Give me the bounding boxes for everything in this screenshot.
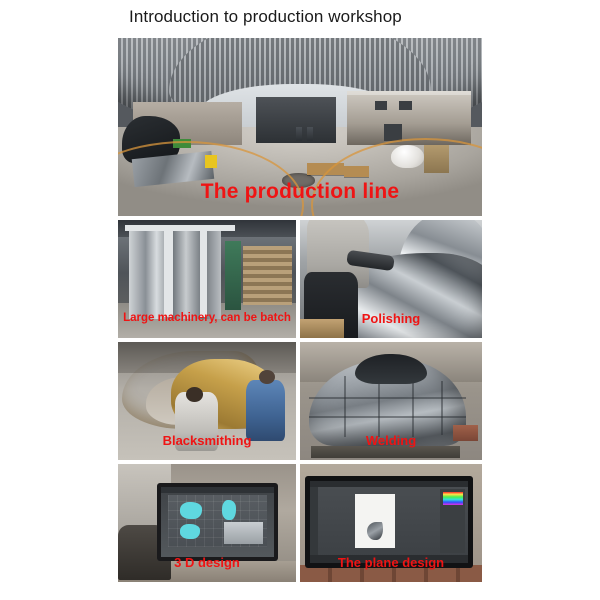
- welding-brick-pile: [453, 425, 478, 442]
- gallery-row-1: The production line: [118, 38, 482, 216]
- cardboard-boxes: [300, 565, 482, 582]
- machinery-timber-rack: [243, 246, 293, 305]
- product-description-page: Introduction to production workshop: [0, 0, 600, 600]
- photo-welding: [300, 342, 482, 460]
- panorama-worker: [296, 127, 302, 141]
- panorama-doorway: [384, 124, 401, 140]
- cyan-3d-model: [222, 500, 236, 520]
- machinery-column: [164, 229, 173, 316]
- design-monitor: [157, 483, 278, 561]
- render-preview-panel: [224, 522, 264, 544]
- gallery-item-polishing[interactable]: Polishing: [300, 220, 482, 338]
- monitor-screen: [161, 487, 274, 557]
- weld-seam: [441, 381, 443, 435]
- photo-3d-design: [118, 464, 296, 582]
- polishing-wood-support: [300, 319, 344, 338]
- photo-polishing: [300, 220, 482, 338]
- gallery-item-plane-design[interactable]: The plane design: [300, 464, 482, 582]
- sculpture-sketch: [367, 522, 383, 540]
- panorama-window: [399, 101, 411, 110]
- gallery-row-4: 3 D design: [118, 464, 482, 582]
- gallery-item-blacksmithing[interactable]: Blacksmithing: [118, 342, 296, 460]
- gallery-row-3: Blacksmithing: [118, 342, 482, 460]
- panorama-window: [375, 101, 387, 110]
- panorama-worker: [307, 127, 313, 141]
- machinery-green-frame: [225, 241, 241, 309]
- gallery-row-2: Large machinery, can be batch Polishing: [118, 220, 482, 338]
- photo-plane-design: [300, 464, 482, 582]
- cyan-3d-model: [180, 502, 202, 519]
- page-title: Introduction to production workshop: [129, 6, 402, 28]
- gallery-item-welding[interactable]: Welding: [300, 342, 482, 460]
- editor-screen: [310, 481, 467, 563]
- editor-status-bar: [310, 555, 467, 562]
- gallery-item-large-machinery[interactable]: Large machinery, can be batch: [118, 220, 296, 338]
- machinery-column: [200, 229, 207, 316]
- gallery-item-production-line[interactable]: The production line: [118, 38, 482, 216]
- gallery-item-3d-design[interactable]: 3 D design: [118, 464, 296, 582]
- workshop-image-gallery: The production line Large machinery, can…: [118, 38, 482, 586]
- plane-design-monitor: [305, 476, 472, 568]
- hydraulic-press: [129, 229, 222, 319]
- modelling-viewport: [168, 495, 267, 547]
- photo-production-line: [118, 38, 482, 216]
- photo-large-machinery: [118, 220, 296, 338]
- weld-seam: [344, 376, 346, 437]
- blacksmith-worker-right: [246, 380, 285, 441]
- software-menu-bar: [161, 487, 274, 493]
- editor-tool-palette: [310, 487, 318, 555]
- editor-canvas: [355, 494, 396, 548]
- panorama-building-right: [347, 91, 471, 144]
- machinery-beam: [125, 225, 235, 231]
- editor-menu-bar: [310, 481, 467, 488]
- cyan-3d-model: [180, 524, 200, 538]
- color-picker-spectrum: [443, 492, 463, 505]
- welding-steel-base: [311, 446, 460, 458]
- photo-blacksmithing: [118, 342, 296, 460]
